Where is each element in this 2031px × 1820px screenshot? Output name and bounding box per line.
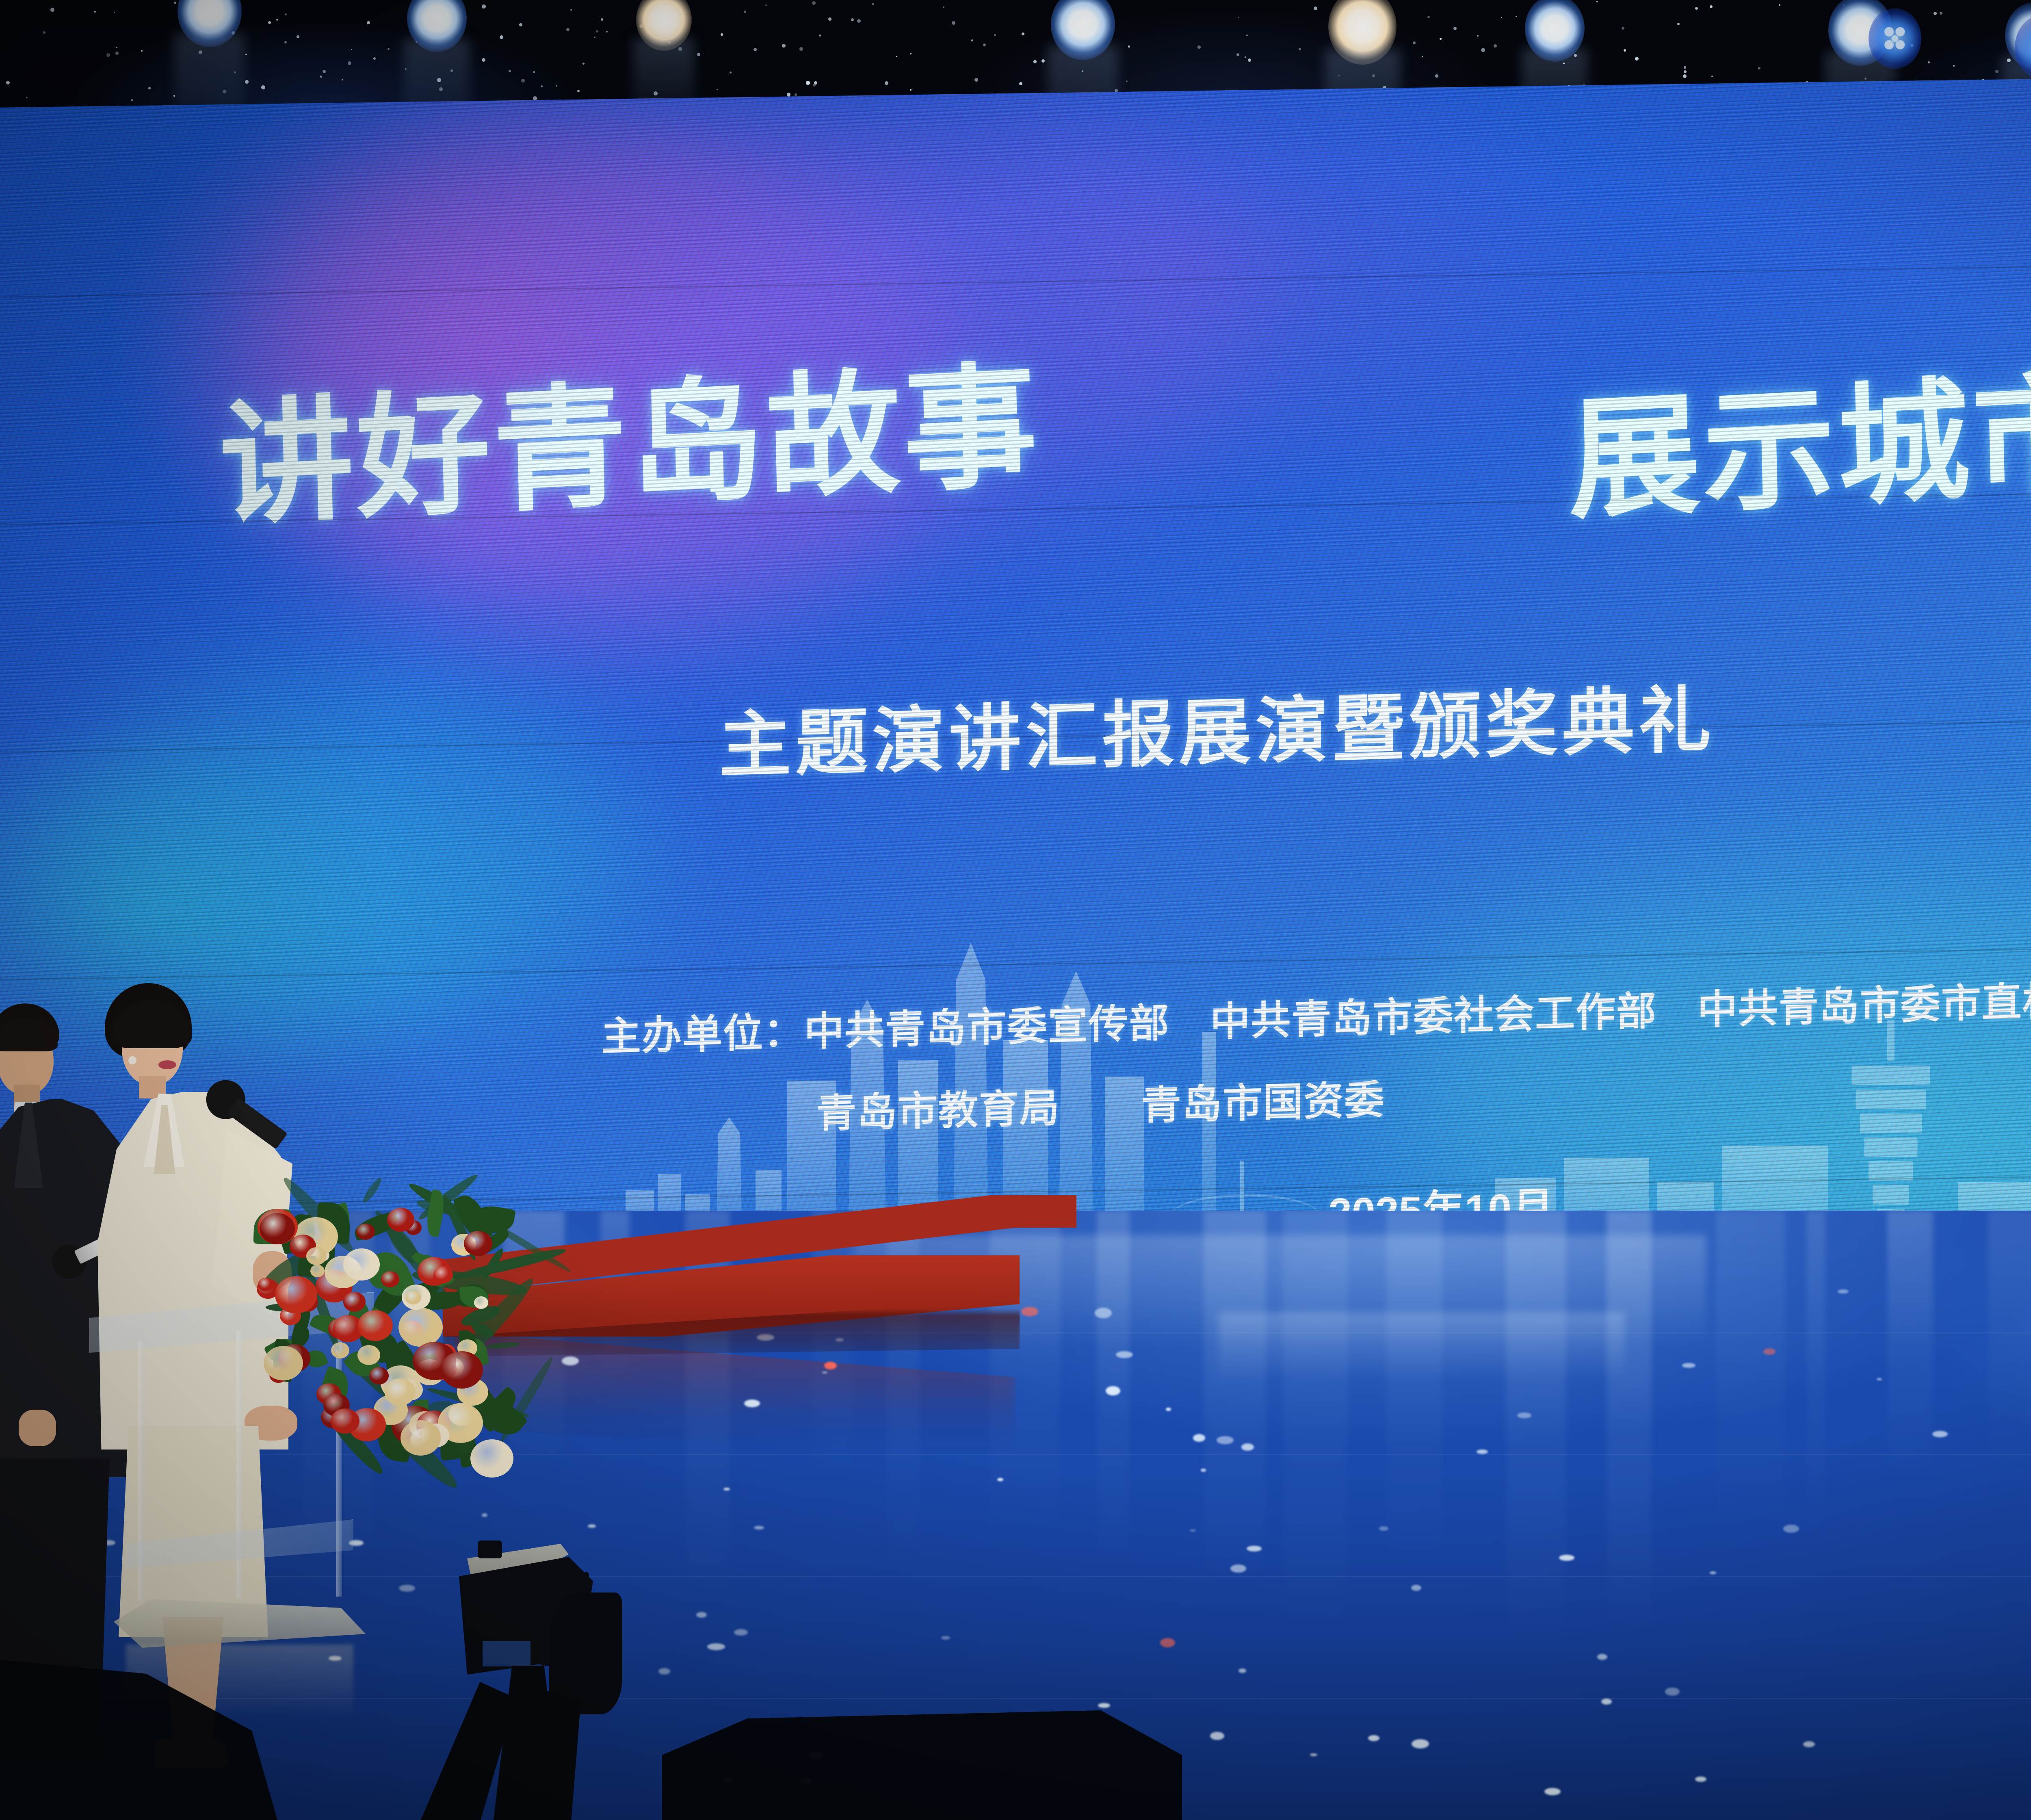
floor-light-reflection <box>1716 1211 1785 1560</box>
star-led <box>1022 32 1024 35</box>
flower-blossom <box>357 1345 380 1365</box>
floor-specular-dot <box>744 1400 760 1407</box>
star-led <box>910 89 912 91</box>
led-backdrop-screen: 讲好青岛故事 展示城市形象 主题演讲汇报展演暨颁奖典礼 主办单位：中共青岛市委宣… <box>0 69 2031 1276</box>
star-led <box>1758 67 1760 69</box>
star-led <box>1710 5 1713 8</box>
star-led <box>1683 74 1687 78</box>
star-led <box>1245 56 1246 58</box>
floor-specular-dot <box>1477 1449 1488 1454</box>
star-led <box>851 18 854 21</box>
flower-blossom <box>310 1265 325 1277</box>
floor-specular-dot <box>1838 1289 1849 1293</box>
flower-blossom <box>441 1351 483 1389</box>
floor-specular-dot <box>1695 1777 1706 1782</box>
star-led <box>482 4 486 9</box>
female-host-earring <box>128 1056 136 1064</box>
star-led <box>245 80 249 84</box>
star-led <box>342 79 343 80</box>
floor-specular-dot <box>1665 1688 1680 1696</box>
star-led <box>1928 61 1930 63</box>
foliage-frond <box>485 1341 520 1350</box>
flower-blossom <box>275 1276 317 1313</box>
flower-blossom <box>264 1346 303 1380</box>
flower-blossom <box>387 1208 414 1232</box>
star-led <box>896 56 897 57</box>
stage-scene-root: 讲好青岛故事 展示城市形象 主题演讲汇报展演暨颁奖典礼 主办单位：中共青岛市委宣… <box>0 0 2031 1820</box>
stage-riser-left <box>443 1190 1076 1361</box>
star-led <box>971 39 973 41</box>
floor-specular-dot <box>1241 1443 1254 1451</box>
star-led <box>1126 80 1128 82</box>
star-led <box>367 21 370 24</box>
star-led <box>1453 27 1457 30</box>
par-led-fixture-icon <box>1869 8 1921 69</box>
flower-blossom <box>331 1408 359 1434</box>
star-led <box>717 89 718 90</box>
star-led <box>509 70 511 72</box>
floor-specular-dot <box>1877 1378 1882 1380</box>
flower-blossom <box>260 1213 295 1244</box>
female-host-lips <box>158 1060 176 1069</box>
star-led <box>284 41 287 43</box>
star-led <box>519 23 522 26</box>
star-led <box>276 19 278 21</box>
star-led <box>1684 66 1686 69</box>
star-led <box>570 9 572 11</box>
star-led <box>819 35 821 37</box>
floor-specular-dot <box>1310 1753 1317 1756</box>
star-led <box>1779 4 1780 6</box>
star-led <box>885 81 888 85</box>
flower-blossom <box>474 1296 488 1309</box>
floral-arrangement <box>227 1178 520 1487</box>
floor-specular-dot <box>1201 1469 1206 1472</box>
flower-blossom <box>343 1248 380 1280</box>
star-led <box>857 19 861 23</box>
led-moire-pattern <box>0 69 2031 1276</box>
star-led <box>601 18 603 21</box>
star-led <box>50 8 54 12</box>
flower-blossom <box>306 1247 327 1265</box>
star-led <box>297 35 299 38</box>
star-led <box>1684 70 1687 73</box>
floor-specular-dot <box>1601 1699 1612 1705</box>
star-led <box>1596 1 1598 2</box>
star-led <box>500 35 503 39</box>
star-led <box>94 11 96 13</box>
star-led <box>1248 58 1251 62</box>
star-led <box>1435 74 1438 78</box>
star-led <box>1622 27 1624 30</box>
star-led <box>116 47 117 48</box>
flower-blossom <box>356 1224 375 1240</box>
star-led <box>351 49 352 50</box>
floor-specular-dot <box>1710 1571 1716 1574</box>
star-led <box>261 85 265 89</box>
star-led <box>594 37 595 38</box>
star-led <box>1677 23 1680 25</box>
star-led <box>1236 53 1239 56</box>
star-led <box>1934 12 1937 15</box>
floor-text-reflection <box>1219 1312 1625 1393</box>
star-led <box>1995 70 1999 73</box>
star-led <box>373 57 376 60</box>
star-led <box>872 3 874 5</box>
star-led <box>320 76 322 78</box>
flower-blossom <box>464 1231 492 1256</box>
star-led <box>1953 65 1955 67</box>
star-led <box>1711 76 1713 77</box>
floor-specular-dot <box>482 1513 487 1517</box>
star-led <box>26 97 28 98</box>
star-led <box>730 71 732 74</box>
star-led <box>388 48 390 50</box>
star-led <box>1314 6 1317 10</box>
star-led <box>1635 57 1639 61</box>
star-led <box>582 63 585 65</box>
star-led <box>566 28 569 31</box>
floor-specular-dot <box>1368 1735 1379 1741</box>
star-led <box>556 85 557 87</box>
floor-specular-dot <box>997 1478 1003 1481</box>
star-led <box>1695 7 1698 10</box>
star-led <box>1624 49 1626 52</box>
star-led <box>1477 35 1479 37</box>
star-led <box>721 33 723 36</box>
floor-light-reflection <box>1887 1211 1933 1491</box>
floor-specular-dot <box>1106 1386 1120 1395</box>
foreground-silhouette-center <box>662 1706 1182 1820</box>
star-led <box>245 54 247 55</box>
flower-blossom <box>433 1266 453 1283</box>
star-led <box>799 47 803 51</box>
star-led <box>974 78 978 82</box>
star-led <box>131 99 133 101</box>
flower-blossom <box>358 1310 393 1341</box>
flower-blossom <box>401 1420 441 1456</box>
star-led <box>994 34 996 36</box>
star-led <box>1238 17 1239 18</box>
floor-specular-dot <box>941 1636 950 1640</box>
star-led <box>1481 48 1485 52</box>
floor-specular-dot <box>1098 1703 1110 1708</box>
star-led <box>533 71 535 73</box>
star-led <box>744 11 746 13</box>
podium-base-plate <box>114 1599 366 1648</box>
floor-specular-dot <box>1160 1638 1175 1647</box>
male-host-hand <box>19 1410 56 1446</box>
floor-specular-dot <box>824 1362 837 1369</box>
star-led <box>1246 35 1248 36</box>
floor-specular-dot <box>1411 1585 1421 1591</box>
star-led <box>1041 59 1045 63</box>
star-led <box>106 53 110 57</box>
floor-specular-dot <box>822 1371 827 1374</box>
star-led <box>952 21 955 25</box>
star-led <box>1501 17 1502 18</box>
floor-specular-dot <box>1783 1525 1799 1533</box>
floor-specular-dot <box>1763 1348 1776 1355</box>
floor-specular-dot <box>1803 1741 1815 1747</box>
star-led <box>1516 16 1517 17</box>
star-led <box>910 53 912 54</box>
star-led <box>174 2 176 4</box>
star-led <box>606 31 608 32</box>
floor-specular-dot <box>1116 1351 1133 1358</box>
floor-specular-dot <box>1379 1526 1388 1531</box>
floor-specular-dot <box>1166 1408 1171 1411</box>
floor-specular-dot <box>1210 1732 1224 1740</box>
star-led <box>795 93 797 96</box>
star-led <box>6 81 10 84</box>
floor-specular-dot <box>1597 1654 1607 1660</box>
star-led <box>323 70 326 73</box>
floor-specular-dot <box>1544 1788 1561 1795</box>
star-led <box>596 30 598 32</box>
star-led <box>1440 38 1442 40</box>
star-led <box>1299 48 1301 50</box>
star-led <box>1128 45 1130 48</box>
floor-specular-dot <box>1559 1555 1574 1561</box>
floor-specular-dot <box>1230 1564 1246 1573</box>
star-led <box>285 13 287 15</box>
star-led <box>141 50 143 52</box>
floor-specular-dot <box>1193 1434 1205 1442</box>
star-led <box>115 52 119 55</box>
star-led <box>1019 82 1022 85</box>
flower-blossom <box>385 1378 416 1406</box>
floor-specular-dot <box>1517 1413 1531 1418</box>
star-led <box>1197 45 1201 49</box>
floor-specular-dot <box>1412 1739 1429 1748</box>
star-led <box>114 12 115 13</box>
star-led <box>813 84 816 87</box>
flower-blossom <box>470 1439 513 1478</box>
star-led <box>787 93 790 96</box>
star-led <box>348 61 351 65</box>
star-led <box>43 31 45 34</box>
star-led <box>983 43 986 46</box>
star-led <box>1494 44 1497 48</box>
floor-specular-dot <box>723 1488 730 1491</box>
star-led <box>521 79 525 82</box>
floor-light-reflection <box>1988 1211 2031 1499</box>
star-led <box>148 87 151 89</box>
floor-specular-dot <box>1682 1363 1695 1368</box>
star-led <box>1033 60 1037 63</box>
floor-specular-dot <box>1095 1308 1112 1318</box>
floor-specular-dot <box>1217 1436 1234 1444</box>
flower-blossom <box>331 1342 349 1358</box>
flower-blossom <box>398 1308 443 1347</box>
star-led <box>1413 41 1416 44</box>
star-led <box>268 21 271 24</box>
star-led <box>697 53 700 56</box>
floor-light-reflection <box>1806 1211 1825 1564</box>
star-led <box>1422 56 1423 57</box>
star-led <box>806 81 810 85</box>
star-led <box>812 1 816 5</box>
floor-specular-dot <box>1239 1668 1246 1673</box>
star-led <box>533 96 537 100</box>
star-led <box>1940 12 1942 15</box>
flower-blossom <box>343 1292 366 1312</box>
foliage-frond <box>361 1176 384 1205</box>
star-led <box>541 85 543 87</box>
flower-blossom <box>381 1271 399 1287</box>
star-led <box>765 4 767 6</box>
floor-specular-dot <box>1932 1431 1948 1437</box>
flower-blossom <box>369 1367 389 1384</box>
floor-specular-dot <box>1190 1530 1196 1532</box>
star-led <box>577 90 580 92</box>
star-led <box>754 48 757 51</box>
star-led <box>782 44 786 48</box>
flower-blossom <box>405 1291 421 1304</box>
star-led <box>482 58 485 62</box>
star-led <box>1427 16 1430 18</box>
star-led <box>828 17 831 21</box>
flower-blossom <box>258 1278 274 1291</box>
floor-specular-dot <box>1247 1546 1262 1551</box>
star-led <box>943 6 944 8</box>
